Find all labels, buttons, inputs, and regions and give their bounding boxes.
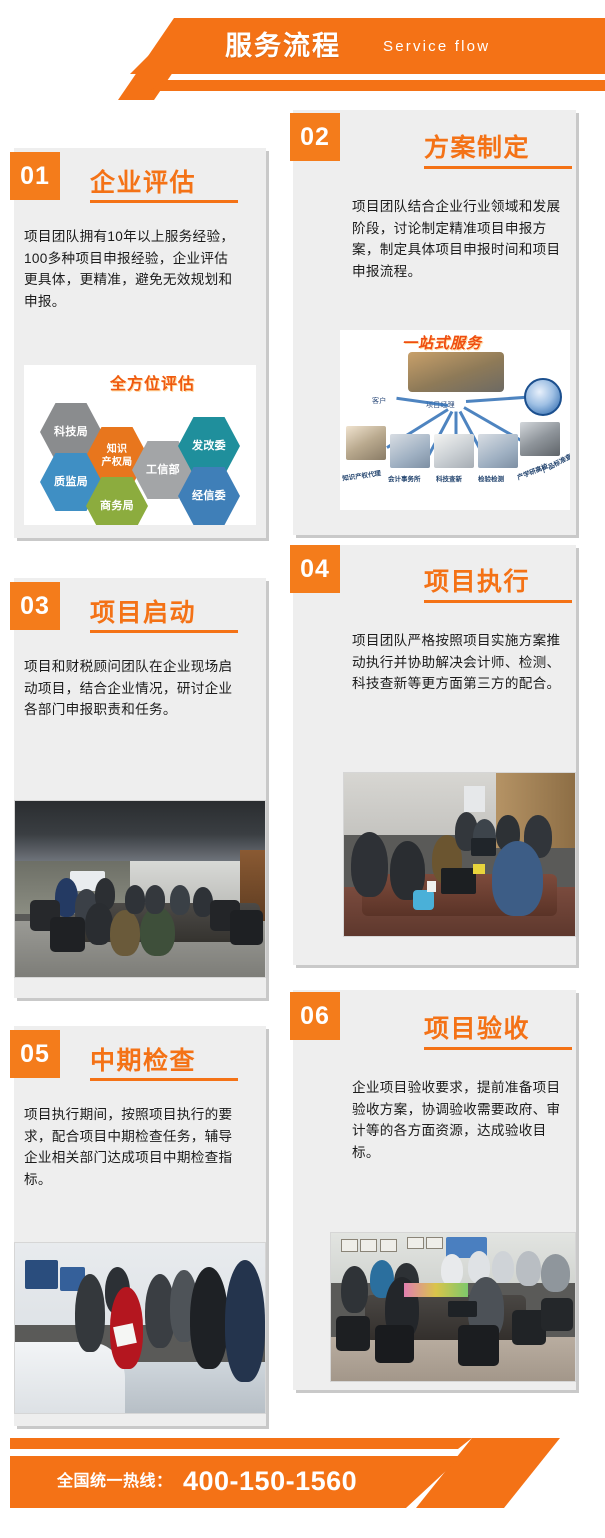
step-number-badge-01: 01	[10, 152, 60, 200]
title-underline-05	[90, 1078, 238, 1081]
page-subtitle: Service flow	[383, 33, 490, 61]
step-body-03: 项目和财税顾问团队在企业现场启动项目，结合企业情况，研讨企业各部门申报职责和任务…	[24, 656, 236, 721]
one-stop-service-diagram: 一站式服务 客户 项目经理 知识产权代理 会计事务所 科技查新 检验检测 产学研…	[340, 330, 570, 510]
hex-diagram-title: 全方位评估	[110, 370, 195, 394]
all-round-evaluation-diagram: 全方位评估 科技局 知识 产权局 质监局 工信部 商务局 发改委 经信委	[24, 365, 256, 525]
step-body-06: 企业项目验收要求，提前准备项目验收方案，协调验收需要政府、审计等的各方面资源，达…	[352, 1077, 564, 1163]
step-title-03: 项目启动	[90, 593, 196, 629]
flow-node-inspection-testing	[478, 434, 518, 468]
flow-hub-photo	[408, 352, 504, 392]
title-underline-01	[90, 200, 238, 203]
photo-working-session	[343, 772, 576, 937]
service-flow-infographic: 服务流程 Service flow 01 企业评估 项目团队拥有10年以上服务经…	[0, 0, 605, 1538]
flow-label-client: 客户	[372, 396, 386, 406]
step-number-badge-03: 03	[10, 582, 60, 630]
hex-node-label: 工信部	[146, 464, 180, 477]
step-title-01: 企业评估	[90, 163, 196, 199]
title-underline-02	[424, 166, 572, 169]
hex-node-label: 商务局	[100, 500, 134, 513]
photo-meeting-room	[14, 800, 266, 978]
header-banner	[130, 18, 605, 74]
flow-caption-inspection-testing: 检验检测	[478, 473, 504, 483]
flow-node-university-research	[520, 422, 560, 456]
step-number-badge-02: 02	[290, 113, 340, 161]
hex-node-label: 发改委	[192, 440, 226, 453]
step-title-06: 项目验收	[424, 1009, 530, 1045]
hotline-label: 全国统一热线：	[57, 1468, 173, 1496]
step-body-04: 项目团队严格按照项目实施方案推动执行并协助解决会计师、检测、科技查新等更方面第三…	[352, 630, 564, 695]
step-number-badge-04: 04	[290, 545, 340, 593]
hex-node-label: 质监局	[54, 476, 88, 489]
header-stripe-decoration	[150, 80, 605, 91]
page-footer: 全国统一热线： 400-150-1560	[0, 1400, 605, 1538]
hotline-number: 400-150-1560	[183, 1462, 357, 1500]
title-underline-06	[424, 1047, 572, 1050]
title-underline-03	[90, 630, 238, 633]
step-body-01: 项目团队拥有10年以上服务经验，100多种项目申报经验，企业评估更具体，更精准，…	[24, 226, 236, 312]
flow-node-accounting-firm	[390, 434, 430, 468]
step-title-04: 项目执行	[424, 562, 530, 598]
hex-node-label: 经信委	[192, 490, 226, 503]
flow-caption-ip-agency: 知识产权代理	[341, 467, 381, 482]
flow-diagram-title: 一站式服务	[402, 332, 482, 353]
page-header: 服务流程 Service flow	[0, 0, 605, 100]
page-title: 服务流程	[225, 22, 341, 70]
flow-node-product-standard-seal	[524, 378, 562, 416]
flow-node-ip-agency	[346, 426, 386, 460]
photo-conference	[330, 1232, 576, 1382]
flow-node-tech-novelty-search	[434, 434, 474, 468]
step-title-05: 中期检查	[90, 1041, 196, 1077]
flow-caption-accounting-firm: 会计事务所	[388, 473, 421, 483]
step-body-05: 项目执行期间，按照项目执行的要求，配合项目中期检查任务，辅导企业相关部门达成项目…	[24, 1104, 236, 1190]
step-number-badge-06: 06	[290, 992, 340, 1040]
step-title-02: 方案制定	[424, 128, 530, 164]
step-number-badge-05: 05	[10, 1030, 60, 1078]
photo-site-visit	[14, 1242, 266, 1414]
footer-stripe-decoration	[10, 1438, 472, 1449]
hex-node-label: 科技局	[54, 426, 88, 439]
flow-caption-tech-novelty-search: 科技查新	[436, 473, 462, 483]
title-underline-04	[424, 600, 572, 603]
hex-node-label: 知识 产权局	[102, 443, 133, 469]
step-body-02: 项目团队结合企业行业领域和发展阶段，讨论制定精准项目申报方案，制定具体项目申报时…	[352, 196, 564, 282]
